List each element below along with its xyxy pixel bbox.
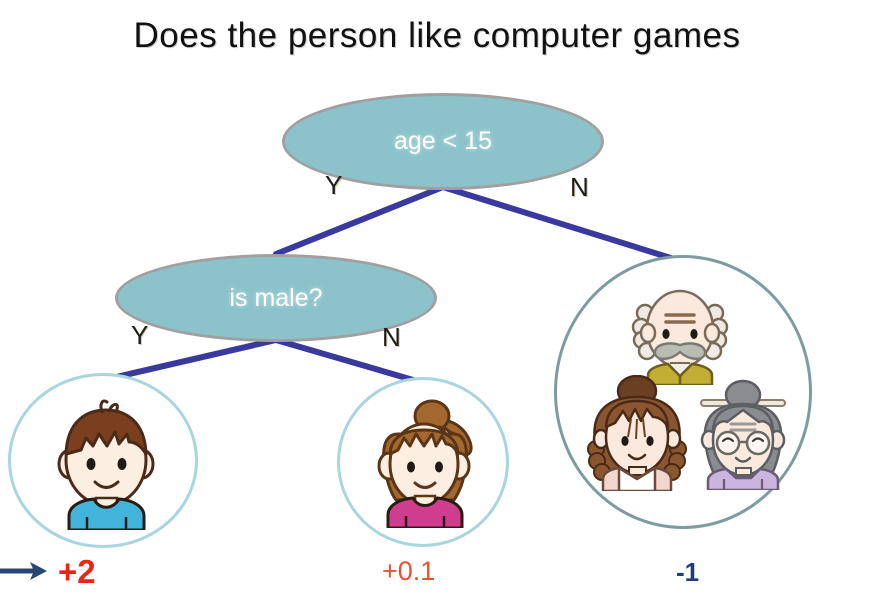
page-title: Does the person like computer games [0,16,874,56]
leaf-node-girl[interactable] [337,377,509,547]
edge-label-ismale-yes: Y [131,320,148,351]
edge-root-to-elders [443,187,690,264]
decision-node-age-label: age < 15 [394,127,492,156]
old-man-avatar [628,281,732,385]
leaf-node-boy[interactable] [8,373,198,548]
leaf-node-elders[interactable] [554,255,812,529]
right-arrow-icon [0,558,48,584]
elderly-woman-avatar [691,378,795,490]
leaf-score-elders: -1 [676,557,699,588]
edge-label-root-yes: Y [325,170,342,201]
edge-root-to-ismale [276,187,443,254]
decision-node-is-male-label: is male? [229,284,322,313]
boy-avatar [41,398,171,530]
woman-bun-avatar [581,375,693,491]
diagram-canvas: Does the person like computer games age … [0,0,874,602]
edge-label-root-no: N [570,172,589,203]
edge-label-ismale-no: N [382,322,401,353]
leaf-score-boy: +2 [58,553,96,591]
girl-avatar [362,396,488,528]
leaf-score-girl: +0.1 [382,556,435,587]
